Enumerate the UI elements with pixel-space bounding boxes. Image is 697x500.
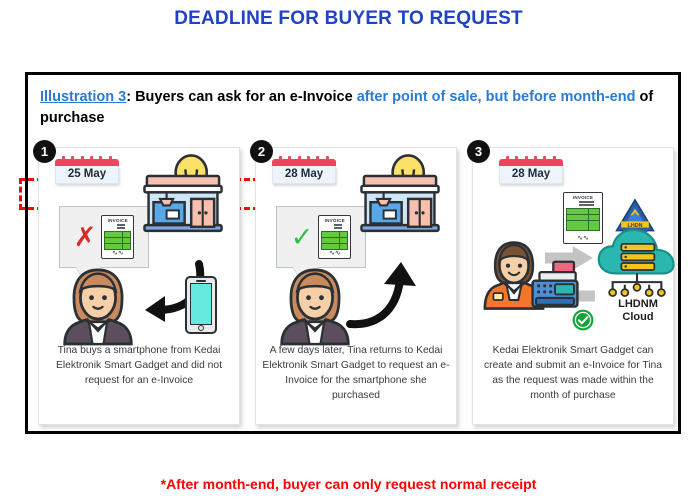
check-mark-icon: ✓ [291,224,314,251]
calendar-date: 25 May [55,166,119,184]
headline-black-1: : Buyers can ask for an e-Invoice [126,89,356,105]
invoice-document-icon: INVOICE ∿∿ [101,215,134,259]
panel-1: 1 25 May ✗ INVOICE ∿∿ [38,147,240,425]
invoice-title: INVOICE [104,218,131,223]
panel-caption: A few days later, Tina returns to Kedai … [262,344,450,404]
cash-register-icon [529,260,581,315]
headline: Illustration 3: Buyers can ask for an e-… [40,87,670,129]
panel-caption: Kedai Elektronik Smart Gadget can create… [479,344,667,404]
phone-screen [190,283,212,325]
panel-3-artwork: 28 May INVOICE ∿∿ LHDN [473,148,673,346]
calendar-icon: 25 May [55,156,119,184]
calendar-date: 28 May [499,166,563,184]
panel-number-badge: 1 [33,140,56,163]
shop-icon [359,154,441,234]
cloud-label-line2: Cloud [595,311,681,324]
curved-arrow-up [344,258,424,335]
shop-icon [142,154,224,234]
panel-2: 2 28 May ✓ INVOICE ∿∿ [255,147,457,425]
panel-caption: Tina buys a smartphone from Kedai Elektr… [45,344,233,389]
woman-buyer-avatar [278,266,352,346]
headline-blue-1: after point of sale, but [357,89,512,105]
calendar-icon: 28 May [499,156,563,184]
panel-number-badge: 3 [467,140,490,163]
headline-blue-2: before month-end [512,89,635,105]
panel-2-artwork: 28 May ✓ INVOICE ∿∿ [256,148,456,346]
panel-1-artwork: 25 May ✗ INVOICE ∿∿ [39,148,239,346]
smartphone-icon [185,276,217,334]
panel-number-badge: 2 [250,140,273,163]
cloud-label-line1: LHDNM [595,298,681,311]
calendar-date: 28 May [272,166,336,184]
headline-label: Illustration 3 [40,89,126,105]
calendar-icon: 28 May [272,156,336,184]
invoice-document-icon: INVOICE ∿∿ [318,215,351,259]
footer-note: *After month-end, buyer can only request… [0,476,697,492]
x-mark-icon: ✗ [74,224,97,251]
invoice-title: INVOICE [566,195,600,200]
page-title: DEADLINE FOR BUYER TO REQUEST [0,8,697,30]
invoice-title: INVOICE [321,218,348,223]
illustration-frame: Illustration 3: Buyers can ask for an e-… [25,72,681,434]
speech-bubble: ✗ INVOICE ∿∿ [59,206,149,268]
panel-3: 3 28 May INVOICE ∿∿ [472,147,674,425]
woman-buyer-avatar [61,266,135,346]
panels-row: 1 25 May ✗ INVOICE ∿∿ [38,147,674,425]
